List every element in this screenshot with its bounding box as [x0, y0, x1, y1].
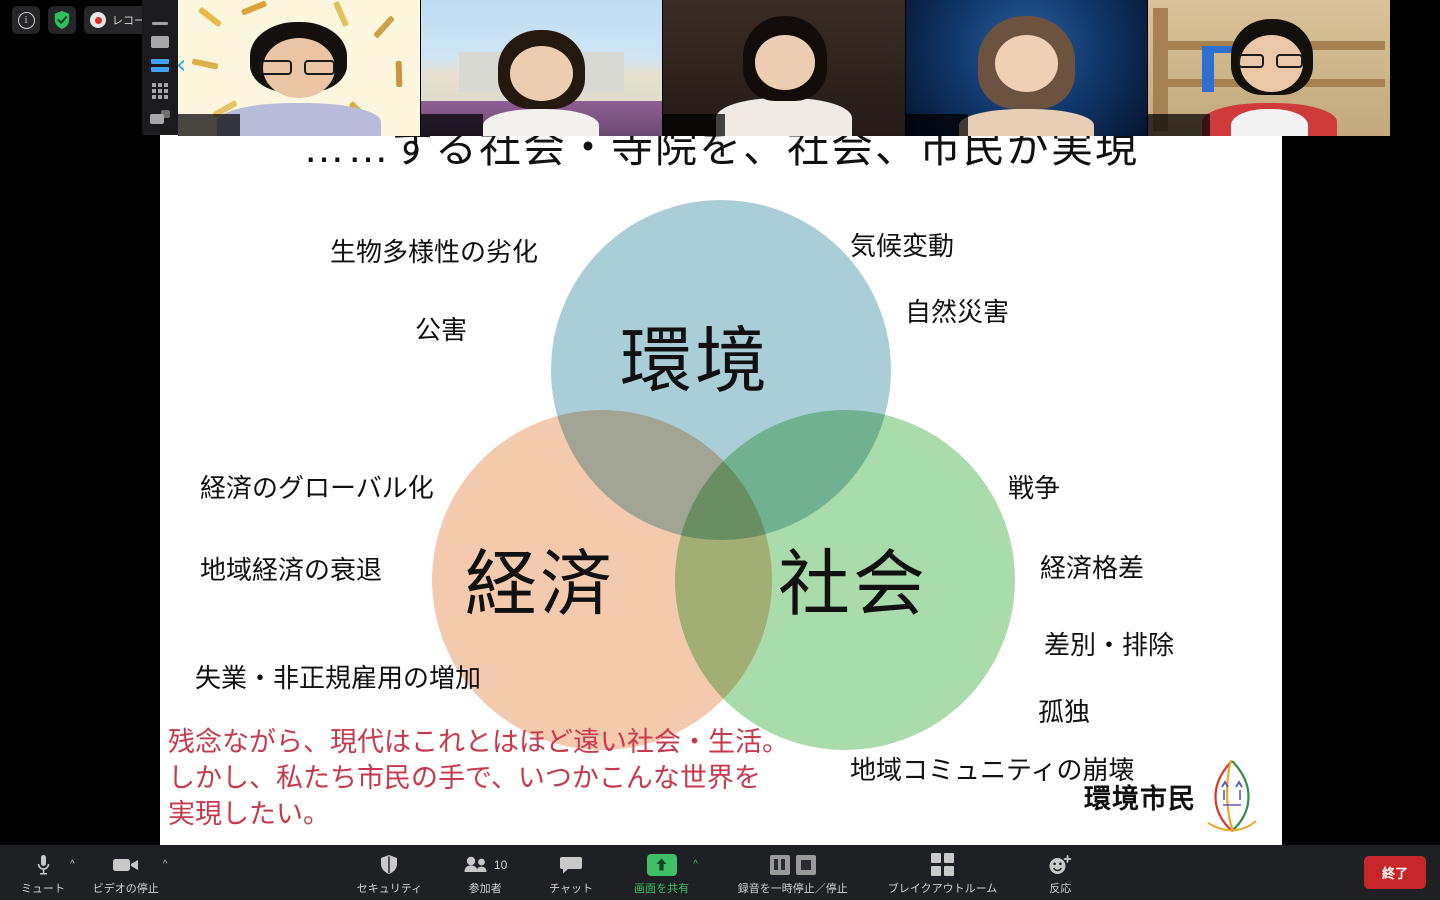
pause-recording-button[interactable]: 録音を一時停止／停止 [738, 850, 848, 896]
meeting-status-controls[interactable]: i レコー [12, 6, 153, 34]
keyword-economic-disparity: 経済格差 [1040, 548, 1144, 585]
leaf-face-logo-icon [1204, 757, 1260, 835]
layout-minimize-bar[interactable] [149, 22, 171, 25]
organization-logo: 環境市民 [1084, 757, 1260, 835]
venn-label-economy: 経済 [465, 525, 615, 630]
video-tile-3[interactable] [663, 0, 905, 136]
breakout-rooms-label: ブレイクアウトルーム [888, 880, 997, 896]
video-options-caret[interactable]: ^ [163, 859, 168, 870]
participants-button[interactable]: 10 参加者 [462, 850, 508, 896]
shield-check-icon [53, 10, 71, 30]
layout-gallery-view[interactable] [149, 83, 171, 99]
participant-name-bar-1 [178, 114, 240, 136]
video-camera-icon [113, 853, 139, 877]
stop-video-button[interactable]: ビデオの停止 [93, 850, 159, 896]
security-button[interactable]: セキュリティ [357, 850, 422, 896]
smiley-plus-icon [1048, 853, 1072, 877]
slide-message: 残念ながら、現代はこれとはほど遠い社会・生活。 しかし、私たち市民の手で、いつか… [168, 725, 789, 833]
chat-button[interactable]: チャット [548, 850, 594, 896]
keyword-discrimination: 差別・排除 [1044, 625, 1174, 662]
logo-text: 環境市民 [1084, 777, 1196, 816]
filmstrip-prev-arrow[interactable]: ‹ [176, 52, 186, 78]
zoom-meeting-window: ……する社会・寺院を、社会、市民が実現 環境 経済 社会 生物多様性の劣化公害気… [0, 0, 1440, 900]
shield-icon [380, 853, 398, 877]
reactions-label: 反応 [1049, 880, 1071, 896]
layout-speaker-view[interactable] [149, 36, 171, 48]
keyword-unemployment: 失業・非正規雇用の増加 [195, 658, 481, 695]
chat-bubble-icon [560, 853, 582, 877]
keyword-war: 戦争 [1008, 468, 1060, 505]
info-icon: i [18, 12, 35, 29]
toolbar-center-group: セキュリティ 10 参加者 [0, 850, 1440, 896]
video-tile-2[interactable] [421, 0, 663, 136]
layout-switcher[interactable] [142, 0, 178, 135]
encryption-status-button[interactable] [48, 6, 76, 34]
meeting-toolbar: ミュート ^ ビデオの停止 ^ [0, 845, 1440, 900]
breakout-rooms-button[interactable]: ブレイクアウトルーム [888, 850, 997, 896]
participant-name-bar-4 [906, 114, 968, 136]
chat-label: チャット [549, 880, 593, 896]
keyword-natural-disaster: 自然災害 [905, 292, 1009, 329]
security-label: セキュリティ [357, 880, 422, 896]
participants-label: 参加者 [469, 880, 502, 896]
mute-label: ミュート [21, 880, 65, 896]
mute-button[interactable]: ミュート [20, 850, 66, 896]
keyword-biodiversity: 生物多様性の劣化 [330, 232, 538, 269]
keyword-pollution: 公害 [415, 310, 467, 347]
keyword-local-economy-decline: 地域経済の衰退 [200, 550, 382, 587]
meeting-info-button[interactable]: i [12, 6, 40, 34]
venn-label-environment: 環境 [620, 302, 770, 407]
video-tile-1[interactable] [178, 0, 420, 136]
keyword-climate-change: 気候変動 [850, 226, 954, 263]
reactions-button[interactable]: 反応 [1037, 850, 1083, 896]
keyword-globalization: 経済のグローバル化 [200, 468, 434, 505]
share-screen-label: 画面を共有 [634, 880, 689, 896]
people-icon: 10 [463, 853, 507, 877]
venn-label-society: 社会 [778, 525, 928, 630]
video-tile-5[interactable] [1148, 0, 1390, 136]
participant-name-bar-3 [663, 114, 725, 136]
participant-name-bar-2 [421, 114, 483, 136]
participant-name-bar-5 [1148, 114, 1210, 136]
share-screen-button[interactable]: 画面を共有 [634, 850, 689, 896]
keyword-loneliness: 孤独 [1038, 692, 1090, 729]
grid-squares-icon [931, 853, 954, 877]
layout-strip-view[interactable] [149, 59, 171, 72]
recording-label: レコー [112, 12, 145, 28]
microphone-icon [36, 853, 51, 877]
share-options-caret[interactable]: ^ [693, 859, 698, 870]
mute-options-caret[interactable]: ^ [70, 859, 75, 870]
pause-recording-label: 録音を一時停止／停止 [738, 880, 848, 896]
end-meeting-button[interactable]: 終了 [1364, 856, 1426, 889]
share-up-arrow-icon [647, 853, 677, 877]
record-dot-icon [90, 12, 106, 28]
video-tile-4[interactable] [906, 0, 1148, 136]
participants-count: 10 [494, 858, 507, 872]
pause-stop-icon [770, 853, 816, 877]
layout-floating-view[interactable] [149, 110, 171, 124]
shared-screen-slide: ……する社会・寺院を、社会、市民が実現 環境 経済 社会 生物多様性の劣化公害気… [160, 120, 1282, 845]
participant-filmstrip[interactable] [178, 0, 1390, 136]
toolbar-left-group: ミュート ^ ビデオの停止 ^ [0, 850, 167, 896]
stop-video-label: ビデオの停止 [93, 880, 159, 896]
